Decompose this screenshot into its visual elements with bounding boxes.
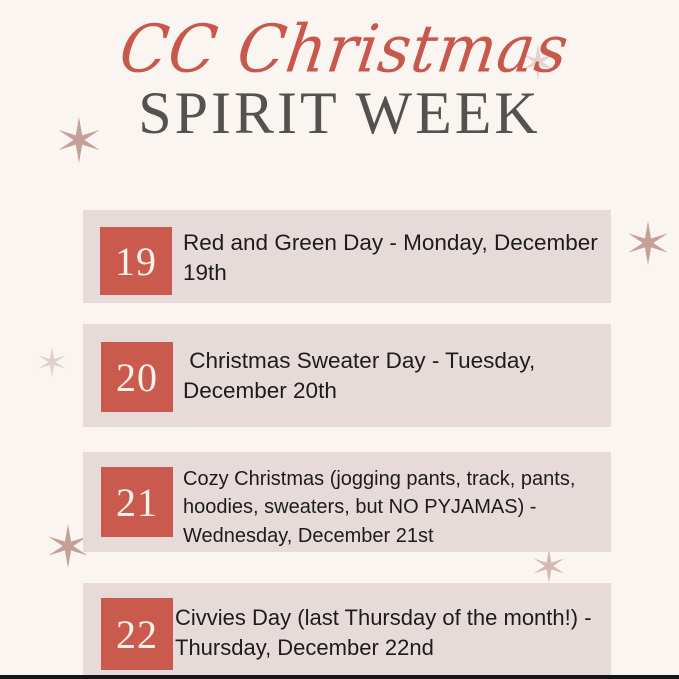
day-number-badge: 19 (100, 227, 172, 295)
spirit-week-poster: CC Christmas SPIRIT WEEK 19 Red and Gree… (0, 0, 679, 679)
sparkle-star-bottom-center (532, 549, 566, 583)
title-script-line: CC Christmas (0, 16, 679, 82)
poster-title: CC Christmas SPIRIT WEEK (0, 18, 679, 145)
event-row: 20 Christmas Sweater Day - Tuesday, Dece… (83, 324, 611, 427)
bottom-crop-bar (0, 675, 679, 679)
day-number-badge: 21 (101, 467, 173, 537)
sparkle-star-right-upper (626, 221, 670, 265)
event-row: 21 Cozy Christmas (jogging pants, track,… (83, 452, 611, 552)
event-row: 22 Civvies Day (last Thursday of the mon… (83, 583, 611, 679)
event-description: Red and Green Day - Monday, December 19t… (183, 228, 598, 288)
event-description: Christmas Sweater Day - Tuesday, Decembe… (183, 346, 603, 406)
event-row: 19 Red and Green Day - Monday, December … (83, 210, 611, 303)
event-description: Civvies Day (last Thursday of the month!… (175, 603, 605, 663)
sparkle-star-left-middle (37, 347, 67, 377)
day-number-badge: 20 (101, 342, 173, 412)
day-number-badge: 22 (101, 598, 173, 670)
event-description: Cozy Christmas (jogging pants, track, pa… (183, 465, 603, 550)
title-serif-line: SPIRIT WEEK (0, 82, 679, 145)
